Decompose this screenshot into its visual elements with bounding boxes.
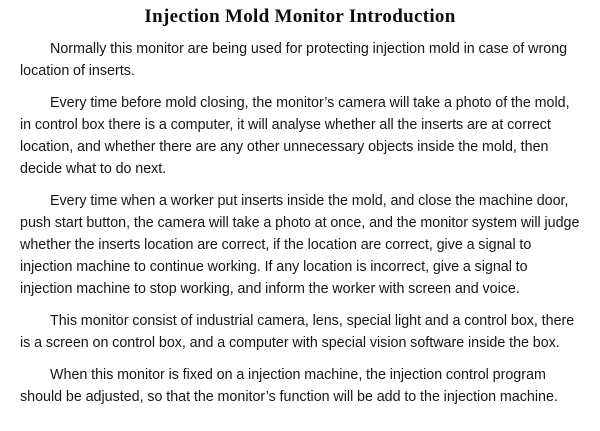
paragraph-worker-workflow: Every time when a worker put inserts ins… xyxy=(20,190,581,300)
document-page: Injection Mold Monitor Introduction Norm… xyxy=(0,0,600,431)
document-body: Normally this monitor are being used for… xyxy=(0,38,600,408)
page-title: Injection Mold Monitor Introduction xyxy=(0,0,600,29)
paragraph-installation: When this monitor is fixed on a injectio… xyxy=(20,364,581,408)
paragraph-overview: Normally this monitor are being used for… xyxy=(20,38,581,82)
paragraph-components: This monitor consist of industrial camer… xyxy=(20,310,581,354)
paragraph-pre-mold-closing: Every time before mold closing, the moni… xyxy=(20,92,581,180)
